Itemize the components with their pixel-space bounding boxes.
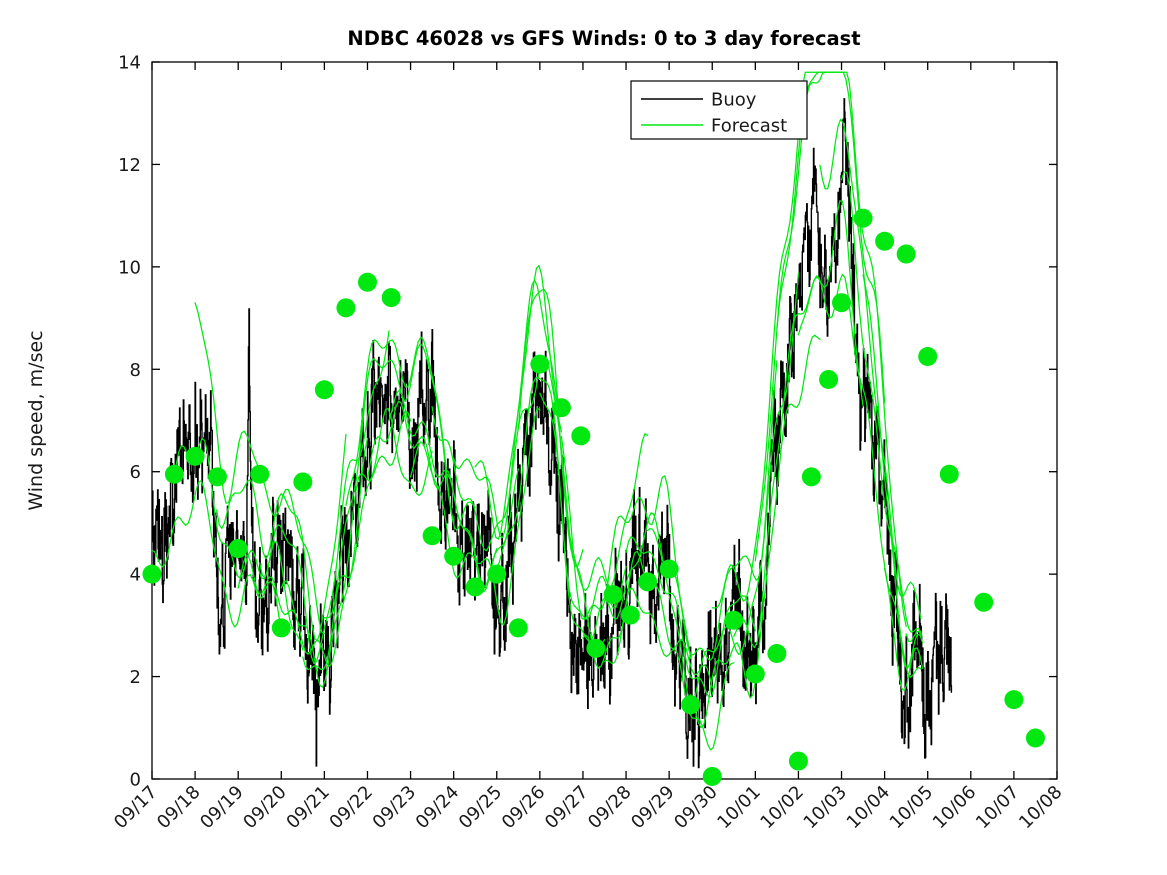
forecast-marker <box>854 209 873 228</box>
forecast-marker <box>604 585 623 604</box>
forecast-marker <box>660 560 679 579</box>
y-tick-label: 12 <box>118 155 141 176</box>
y-tick-label: 8 <box>130 360 141 381</box>
y-tick-label: 10 <box>118 257 141 278</box>
legend-label-forecast: Forecast <box>711 116 787 137</box>
chart-title: NDBC 46028 vs GFS Winds: 0 to 3 day fore… <box>347 27 860 50</box>
forecast-marker <box>802 467 821 486</box>
forecast-marker <box>1026 729 1045 748</box>
forecast-marker <box>746 665 765 684</box>
forecast-marker <box>875 232 894 251</box>
forecast-marker <box>1004 690 1023 709</box>
y-tick-label: 0 <box>130 770 141 791</box>
forecast-marker <box>621 606 640 625</box>
forecast-marker <box>186 447 205 466</box>
forecast-marker <box>638 572 657 591</box>
forecast-marker <box>724 611 743 630</box>
forecast-marker <box>552 398 571 417</box>
y-tick-label: 4 <box>130 565 141 586</box>
forecast-marker <box>918 347 937 366</box>
y-axis-label: Wind speed, m/sec <box>25 330 47 510</box>
chart-figure: NDBC 46028 vs GFS Winds: 0 to 3 day fore… <box>0 0 1167 875</box>
forecast-marker <box>897 245 916 264</box>
forecast-marker <box>143 565 162 584</box>
forecast-marker <box>315 380 334 399</box>
forecast-marker <box>586 639 605 658</box>
forecast-marker <box>165 465 184 484</box>
forecast-marker <box>974 593 993 612</box>
forecast-marker <box>832 293 851 312</box>
forecast-marker <box>423 526 442 545</box>
forecast-marker <box>571 426 590 445</box>
forecast-marker <box>293 472 312 491</box>
y-tick-label: 14 <box>118 53 141 74</box>
forecast-marker <box>703 767 722 786</box>
y-tick-label: 2 <box>130 667 141 688</box>
forecast-marker <box>509 618 528 637</box>
forecast-marker <box>358 273 377 292</box>
forecast-marker <box>444 547 463 566</box>
forecast-marker <box>530 355 549 374</box>
chart-legend: BuoyForecast <box>631 81 807 139</box>
forecast-marker <box>272 618 291 637</box>
forecast-marker <box>229 539 248 558</box>
forecast-marker <box>819 370 838 389</box>
forecast-marker <box>336 298 355 317</box>
forecast-marker <box>250 465 269 484</box>
forecast-marker <box>767 644 786 663</box>
forecast-marker <box>681 695 700 714</box>
chart-canvas: NDBC 46028 vs GFS Winds: 0 to 3 day fore… <box>0 0 1167 875</box>
forecast-marker <box>940 465 959 484</box>
forecast-marker <box>382 288 401 307</box>
forecast-marker <box>208 467 227 486</box>
legend-label-buoy: Buoy <box>711 90 757 111</box>
forecast-marker <box>487 565 506 584</box>
y-tick-label: 6 <box>130 462 141 483</box>
forecast-marker <box>789 752 808 771</box>
forecast-marker <box>466 577 485 596</box>
